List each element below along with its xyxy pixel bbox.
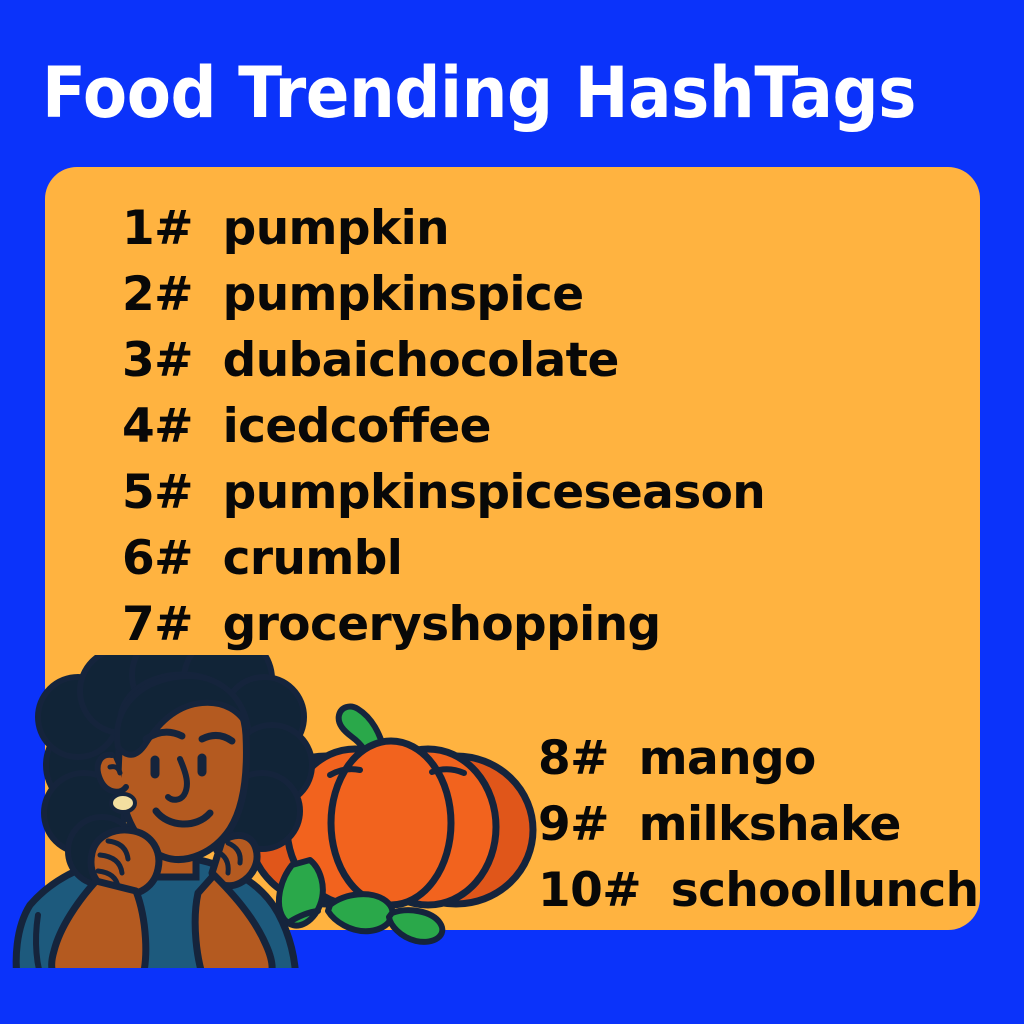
table-surface bbox=[0, 968, 1024, 1024]
hashtag-rank: 6# bbox=[122, 526, 193, 592]
page-title: Food Trending HashTags bbox=[42, 56, 907, 130]
list-item[interactable]: 7# groceryshopping bbox=[122, 592, 822, 658]
list-item[interactable]: 10# schoollunch bbox=[538, 858, 978, 924]
hashtag-rank: 7# bbox=[122, 592, 193, 658]
hashtag-label: pumpkin bbox=[223, 196, 449, 262]
list-item[interactable]: 1# pumpkin bbox=[122, 196, 822, 262]
list-item[interactable]: 5# pumpkinspiceseason bbox=[122, 460, 822, 526]
hashtag-label: schoollunch bbox=[671, 858, 979, 924]
woman-figure bbox=[16, 655, 312, 985]
hashtag-rank: 5# bbox=[122, 460, 193, 526]
hashtag-rank: 1# bbox=[122, 196, 193, 262]
hashtag-rank: 3# bbox=[122, 328, 193, 394]
hashtag-label: mango bbox=[639, 726, 816, 792]
hashtag-label: groceryshopping bbox=[223, 592, 661, 658]
list-item[interactable]: 2# pumpkinspice bbox=[122, 262, 822, 328]
hashtag-label: dubaichocolate bbox=[223, 328, 619, 394]
hashtag-list-right: 8# mango 9# milkshake 10# schoollunch bbox=[538, 726, 978, 924]
poster-canvas: Food Trending HashTags 1# pumpkin 2# pum… bbox=[0, 0, 1024, 1024]
hashtag-label: milkshake bbox=[639, 792, 901, 858]
hashtag-rank: 4# bbox=[122, 394, 193, 460]
hashtag-label: icedcoffee bbox=[223, 394, 491, 460]
list-item[interactable]: 8# mango bbox=[538, 726, 978, 792]
hashtag-label: pumpkinspice bbox=[223, 262, 584, 328]
earring bbox=[111, 794, 135, 812]
hashtag-list-left: 1# pumpkin 2# pumpkinspice 3# dubaichoco… bbox=[122, 196, 822, 658]
list-item[interactable]: 4# icedcoffee bbox=[122, 394, 822, 460]
hashtag-label: pumpkinspiceseason bbox=[223, 460, 766, 526]
hashtag-rank: 2# bbox=[122, 262, 193, 328]
list-item[interactable]: 9# milkshake bbox=[538, 792, 978, 858]
list-item[interactable]: 6# crumbl bbox=[122, 526, 822, 592]
hashtag-label: crumbl bbox=[223, 526, 403, 592]
list-item[interactable]: 3# dubaichocolate bbox=[122, 328, 822, 394]
